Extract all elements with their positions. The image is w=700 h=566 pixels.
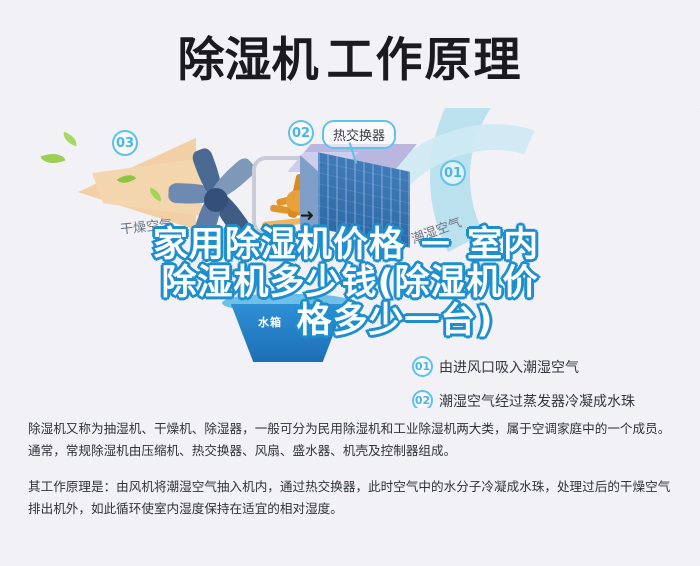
legend-text-01: 由进风口吸入潮湿空气 bbox=[439, 357, 579, 377]
page-title-part-b: 工作原理 bbox=[327, 33, 523, 88]
body-paragraph-1: 除湿机又称为抽湿机、干燥机、除湿器，一般可分为民用除湿机和工业除湿机两大类，属于… bbox=[28, 418, 680, 462]
legend-badge-02: 02 bbox=[412, 390, 433, 408]
page-title-part-a: 除湿机 bbox=[178, 33, 319, 88]
fan-icon bbox=[168, 146, 264, 254]
page-title: 除湿机工作原理 bbox=[0, 18, 700, 102]
body-copy: 除湿机又称为抽湿机、干燥机、除湿器，一般可分为民用除湿机和工业除湿机两大类，属于… bbox=[28, 418, 680, 520]
diagram-legend: 01 由进风口吸入潮湿空气 02 潮湿空气经过蒸发器冷凝成水珠 03 从上部出风… bbox=[412, 356, 700, 408]
diagram-badge-01: 01 bbox=[440, 160, 466, 186]
legend-item: 01 由进风口吸入潮湿空气 bbox=[412, 356, 700, 377]
legend-badge-01: 01 bbox=[412, 356, 433, 377]
dry-air-label: 干燥空气 bbox=[119, 213, 173, 237]
diagram-badge-03: 03 bbox=[112, 130, 138, 156]
page-root: 除湿机工作原理 ➜ 水箱 bbox=[0, 0, 700, 566]
leaf-icon bbox=[40, 148, 65, 168]
diagram-badge-02: 02 bbox=[288, 120, 314, 146]
body-paragraph-2: 其工作原理是：由风机将潮湿空气抽入机内，通过热交换器，此时空气中的水分子冷凝成水… bbox=[28, 476, 680, 520]
water-tank-icon bbox=[226, 304, 350, 362]
water-tank-label: 水箱 bbox=[258, 314, 282, 330]
heat-exchanger-callout: 热交换器 bbox=[322, 120, 396, 149]
legend-item: 02 潮湿空气经过蒸发器冷凝成水珠 bbox=[412, 390, 700, 408]
dehumidifier-diagram: ➜ 水箱 03 02 01 热交换器 干燥空气 潮湿空气 01 由进风口吸入潮湿… bbox=[0, 108, 700, 408]
legend-text-02: 潮湿空气经过蒸发器冷凝成水珠 bbox=[439, 391, 635, 409]
leaf-icon bbox=[61, 132, 79, 146]
airflow-arrow-icon: ➜ bbox=[300, 206, 314, 226]
